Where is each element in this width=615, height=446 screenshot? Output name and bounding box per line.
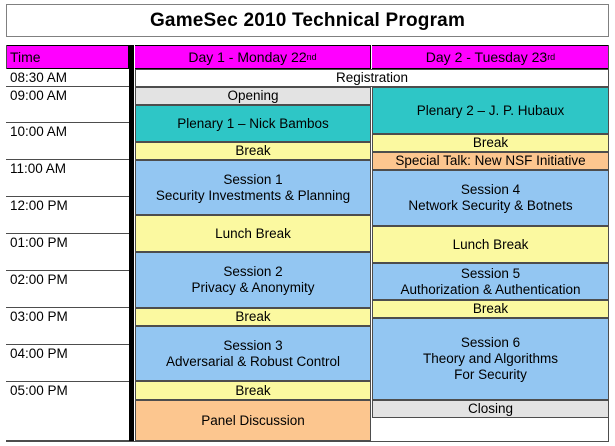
- day2-event-break-morning[interactable]: Break: [372, 134, 609, 152]
- event-subtitle: Privacy & Anonymity: [191, 280, 314, 296]
- event-subtitle: Network Security & Botnets: [408, 198, 572, 214]
- event-title: Closing: [468, 401, 513, 417]
- day2-event-special-talk[interactable]: Special Talk: New NSF Initiative: [372, 152, 609, 170]
- day1-event-session-3[interactable]: Session 3Adversarial & Robust Control: [135, 326, 371, 381]
- time-label-1100am: 11:00 AM: [6, 160, 129, 197]
- day1-event-panel-discussion[interactable]: Panel Discussion: [135, 400, 371, 441]
- column-header-day2-label: Day 2 - Tuesday 23: [426, 49, 547, 65]
- event-title: Session 1: [223, 172, 282, 188]
- event-title: Lunch Break: [453, 237, 529, 253]
- day2-event-plenary-2[interactable]: Plenary 2 – J. P. Hubaux: [372, 87, 609, 134]
- day2-event-lunch-break[interactable]: Lunch Break: [372, 226, 609, 263]
- grid-rule-bottom: [6, 441, 609, 442]
- event-title: Panel Discussion: [201, 413, 305, 429]
- allday-event-registration[interactable]: Registration: [135, 69, 609, 87]
- time-label-0830am: 08:30 AM: [6, 69, 129, 87]
- day1-event-break-afternoon[interactable]: Break: [135, 308, 371, 326]
- day1-event-break-morning[interactable]: Break: [135, 142, 371, 160]
- column-header-day2: Day 2 - Tuesday 23rd: [372, 45, 609, 69]
- event-title: Plenary 1 – Nick Bambos: [177, 116, 329, 132]
- event-title: Session 4: [461, 182, 520, 198]
- event-title: Break: [235, 383, 270, 399]
- day1-event-plenary-1[interactable]: Plenary 1 – Nick Bambos: [135, 105, 371, 142]
- event-title: Lunch Break: [215, 226, 291, 242]
- day2-event-break-afternoon[interactable]: Break: [372, 300, 609, 318]
- event-title: Special Talk: New NSF Initiative: [395, 153, 585, 169]
- time-label-1200pm: 12:00 PM: [6, 197, 129, 234]
- page-title: GameSec 2010 Technical Program: [150, 10, 465, 32]
- event-title: Break: [473, 301, 508, 317]
- time-label-0200pm: 02:00 PM: [6, 271, 129, 308]
- time-label-1000am: 10:00 AM: [6, 123, 129, 160]
- column-header-time-label: Time: [10, 49, 41, 65]
- day1-event-lunch-break[interactable]: Lunch Break: [135, 215, 371, 252]
- column-header-day1: Day 1 - Monday 22nd: [135, 45, 371, 69]
- time-label-0100pm: 01:00 PM: [6, 234, 129, 271]
- event-title: Break: [473, 135, 508, 151]
- event-title: Session 6: [461, 335, 520, 351]
- day1-event-session-2[interactable]: Session 2Privacy & Anonymity: [135, 252, 371, 308]
- event-title: Session 2: [223, 264, 282, 280]
- day1-event-session-1[interactable]: Session 1Security Investments & Planning: [135, 160, 371, 215]
- event-subtitle: Theory and Algorithms: [423, 351, 558, 367]
- day1-event-break-late[interactable]: Break: [135, 381, 371, 400]
- event-subtitle: Adversarial & Robust Control: [166, 354, 340, 370]
- column-header-day1-label: Day 1 - Monday 22: [188, 49, 306, 65]
- time-label-0300pm: 03:00 PM: [6, 308, 129, 345]
- event-title: Registration: [336, 70, 408, 86]
- time-label-0900am: 09:00 AM: [6, 87, 129, 123]
- event-subtitle-2: For Security: [454, 367, 527, 383]
- event-title: Break: [235, 143, 270, 159]
- event-title: Session 3: [223, 338, 282, 354]
- program-schedule-page: GameSec 2010 Technical Program Time Day …: [0, 0, 615, 446]
- column-header-time: Time: [6, 45, 129, 69]
- event-title: Session 5: [461, 266, 520, 282]
- time-label-0400pm: 04:00 PM: [6, 345, 129, 382]
- event-title: Break: [235, 309, 270, 325]
- time-label-0500pm: 05:00 PM: [6, 382, 129, 441]
- day2-event-closing[interactable]: Closing: [372, 400, 609, 418]
- event-title: Opening: [227, 88, 278, 104]
- event-subtitle: Authorization & Authentication: [400, 282, 580, 298]
- event-subtitle: Security Investments & Planning: [156, 188, 350, 204]
- page-title-box: GameSec 2010 Technical Program: [6, 4, 609, 37]
- day2-event-session-6[interactable]: Session 6Theory and AlgorithmsFor Securi…: [372, 318, 609, 400]
- day1-event-opening[interactable]: Opening: [135, 87, 371, 105]
- event-title: Plenary 2 – J. P. Hubaux: [417, 103, 565, 119]
- day2-event-session-4[interactable]: Session 4Network Security & Botnets: [372, 170, 609, 226]
- day2-event-session-5[interactable]: Session 5Authorization & Authentication: [372, 263, 609, 300]
